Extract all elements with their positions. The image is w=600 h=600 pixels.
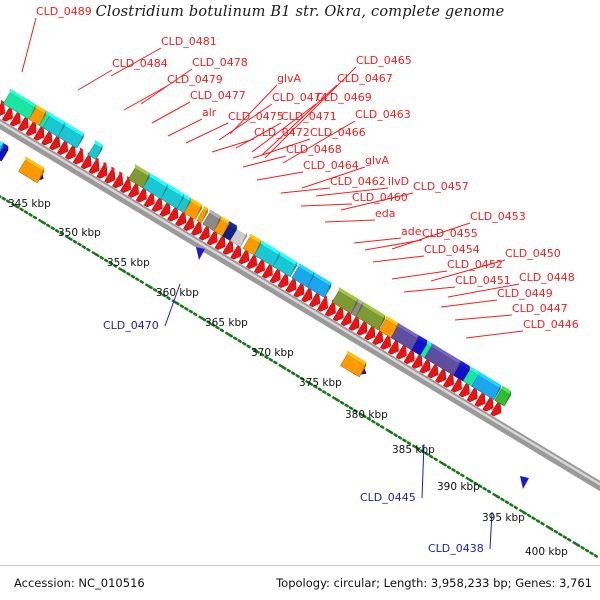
gene-label-eda[interactable]: eda	[375, 208, 396, 219]
accession-text: Accession: NC_010516	[14, 576, 145, 590]
gene-label-cld_0469[interactable]: CLD_0469	[316, 92, 372, 103]
gene-label-cld_0438[interactable]: CLD_0438	[428, 543, 484, 554]
gene-label-cld_0489[interactable]: CLD_0489	[36, 6, 92, 17]
gene-label-cld_0455[interactable]: CLD_0455	[422, 228, 478, 239]
gene-label-cld_0463[interactable]: CLD_0463	[355, 109, 411, 120]
gene-label-cld_0451[interactable]: CLD_0451	[455, 275, 511, 286]
ruler-tick-385: 385 kbp	[392, 444, 435, 456]
gene-label-cld_0478[interactable]: CLD_0478	[192, 57, 248, 68]
ruler-tick-380: 380 kbp	[345, 409, 388, 421]
gene-label-cld_0468[interactable]: CLD_0468	[286, 144, 342, 155]
gene-label-cld_0453[interactable]: CLD_0453	[470, 211, 526, 222]
ruler-tick-355: 355 kbp	[107, 257, 150, 269]
ruler-tick-400: 400 kbp	[525, 546, 568, 558]
gene-label-ade[interactable]: ade	[401, 226, 422, 237]
gene-label-cld_0472[interactable]: CLD_0472	[254, 127, 310, 138]
gene-label-cld_0457[interactable]: CLD_0457	[413, 181, 469, 192]
gene-label-cld_0465[interactable]: CLD_0465	[356, 55, 412, 66]
gene-label-cld_0460[interactable]: CLD_0460	[352, 192, 408, 203]
gene-label-cld_0467[interactable]: CLD_0467	[337, 73, 393, 84]
gene-label-cld_0446[interactable]: CLD_0446	[523, 319, 579, 330]
ruler-tick-365: 365 kbp	[205, 317, 248, 329]
gene-label-cld_0475[interactable]: CLD_0475	[228, 111, 284, 122]
ruler-tick-390: 390 kbp	[437, 481, 480, 493]
gene-label-cld_0462[interactable]: CLD_0462	[330, 176, 386, 187]
gene-label-cld_0464[interactable]: CLD_0464	[303, 160, 359, 171]
gene-label-cld_0466[interactable]: CLD_0466	[310, 127, 366, 138]
gene-label-cld_0454[interactable]: CLD_0454	[424, 244, 480, 255]
gene-label-cld_0470[interactable]: CLD_0470	[103, 320, 159, 331]
ruler-tick-360: 360 kbp	[156, 287, 199, 299]
gene-label-cld_0448[interactable]: CLD_0448	[519, 272, 575, 283]
ruler-tick-370: 370 kbp	[251, 347, 294, 359]
gene-label-cld_0484[interactable]: CLD_0484	[112, 58, 168, 69]
gene-label-glva[interactable]: glvA	[277, 73, 301, 84]
gene-label-cld_0471[interactable]: CLD_0471	[281, 111, 337, 122]
gene-label-cld_0449[interactable]: CLD_0449	[497, 288, 553, 299]
genome-summary-text: Topology: circular; Length: 3,958,233 bp…	[276, 576, 592, 590]
gene-label-cld_0447[interactable]: CLD_0447	[512, 303, 568, 314]
ruler-tick-345: 345 kbp	[8, 198, 51, 210]
footer-bar: Accession: NC_010516 Topology: circular;…	[0, 565, 600, 600]
gene-label-cld_0477[interactable]: CLD_0477	[190, 90, 246, 101]
ruler-tick-375: 375 kbp	[299, 377, 342, 389]
gene-label-cld_0450[interactable]: CLD_0450	[505, 248, 561, 259]
gene-label-glva[interactable]: glvA	[365, 155, 389, 166]
gene-label-cld_0481[interactable]: CLD_0481	[161, 36, 217, 47]
label-leader-lines	[0, 0, 600, 600]
gene-label-ilvd[interactable]: ilvD	[388, 176, 409, 187]
ruler-tick-395: 395 kbp	[482, 512, 525, 524]
gene-label-alr[interactable]: alr	[202, 107, 216, 118]
gene-label-cld_0479[interactable]: CLD_0479	[167, 74, 223, 85]
ruler-tick-350: 350 kbp	[58, 227, 101, 239]
gene-label-cld_0445[interactable]: CLD_0445	[360, 492, 416, 503]
gene-label-cld_0452[interactable]: CLD_0452	[447, 259, 503, 270]
genome-map-canvas: Clostridium botulinum B1 str. Okra, comp…	[0, 0, 600, 600]
